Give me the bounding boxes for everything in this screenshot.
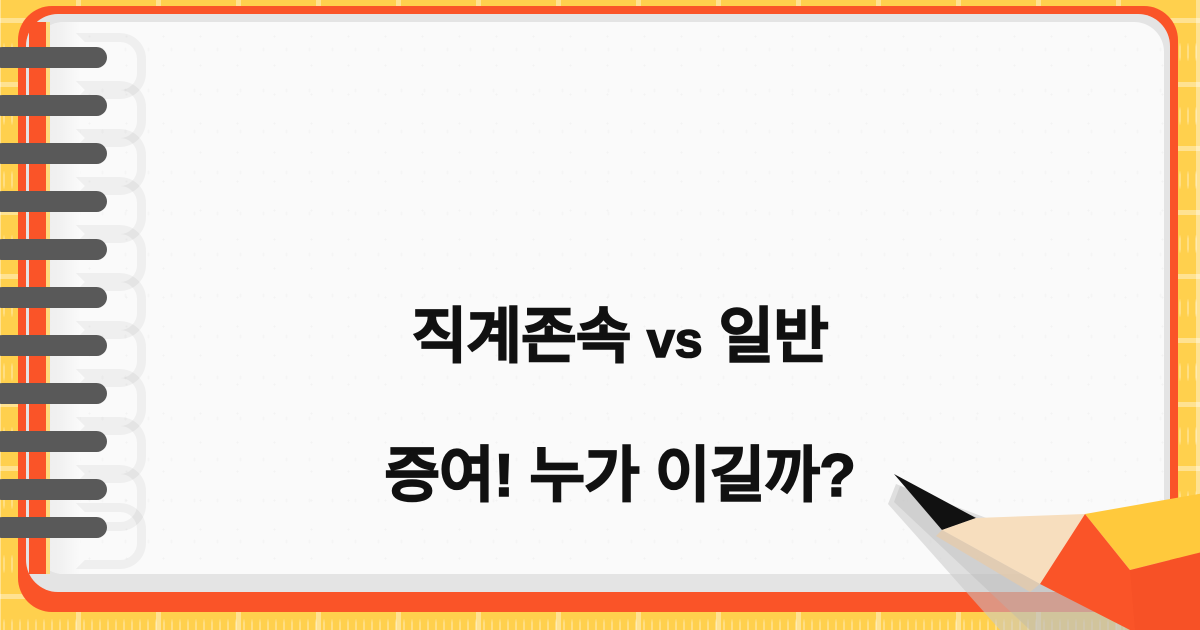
spiral-ring [0, 383, 107, 404]
spiral-ring [0, 431, 107, 452]
spiral-ring [0, 95, 107, 116]
title-line-1: 직계존속 vs 일반 [412, 303, 828, 370]
title-segment-vs: vs [647, 312, 703, 368]
spiral-ring [0, 143, 107, 164]
spiral-ring [0, 287, 107, 308]
spiral-ring [0, 239, 107, 260]
spiral-ring [0, 191, 107, 212]
thumbnail-canvas: 직계존속 vs 일반 증여! 누가 이길까? [0, 0, 1200, 630]
spiral-ring [0, 479, 107, 500]
title-segment-subject: 직계존속 [412, 303, 647, 370]
pencil-illustration [880, 452, 1200, 630]
spiral-ring [0, 517, 107, 538]
title-line-2: 증여! 누가 이길까? [385, 442, 856, 509]
spiral-ring [0, 335, 107, 356]
title-segment-object: 일반 [703, 303, 829, 370]
spiral-ring [0, 47, 107, 68]
